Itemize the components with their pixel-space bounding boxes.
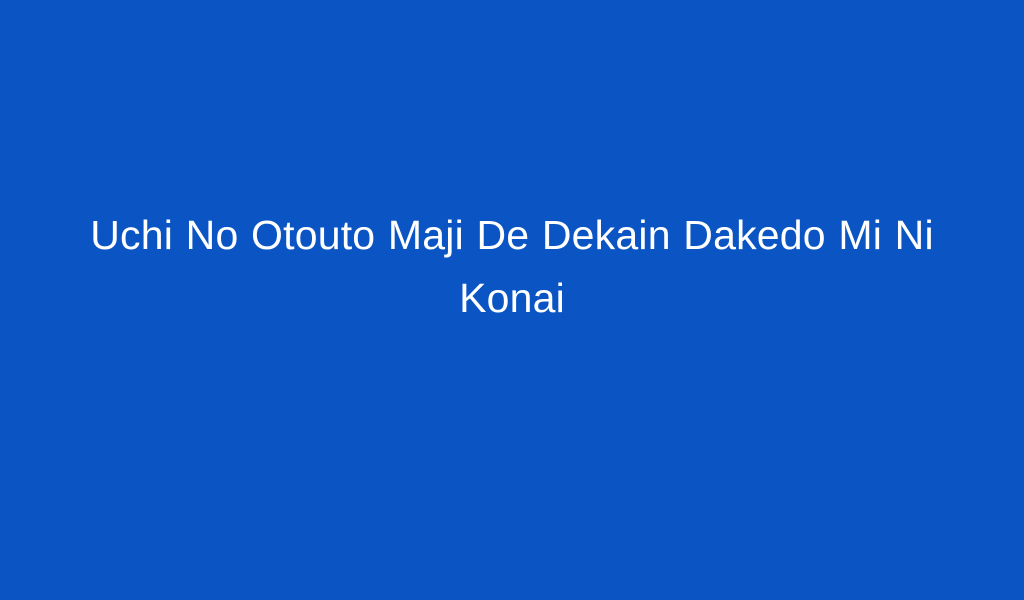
page-title: Uchi No Otouto Maji De Dekain Dakedo Mi …: [62, 204, 962, 330]
title-card: Uchi No Otouto Maji De Dekain Dakedo Mi …: [0, 0, 1024, 600]
headline-block: Uchi No Otouto Maji De Dekain Dakedo Mi …: [62, 204, 962, 330]
